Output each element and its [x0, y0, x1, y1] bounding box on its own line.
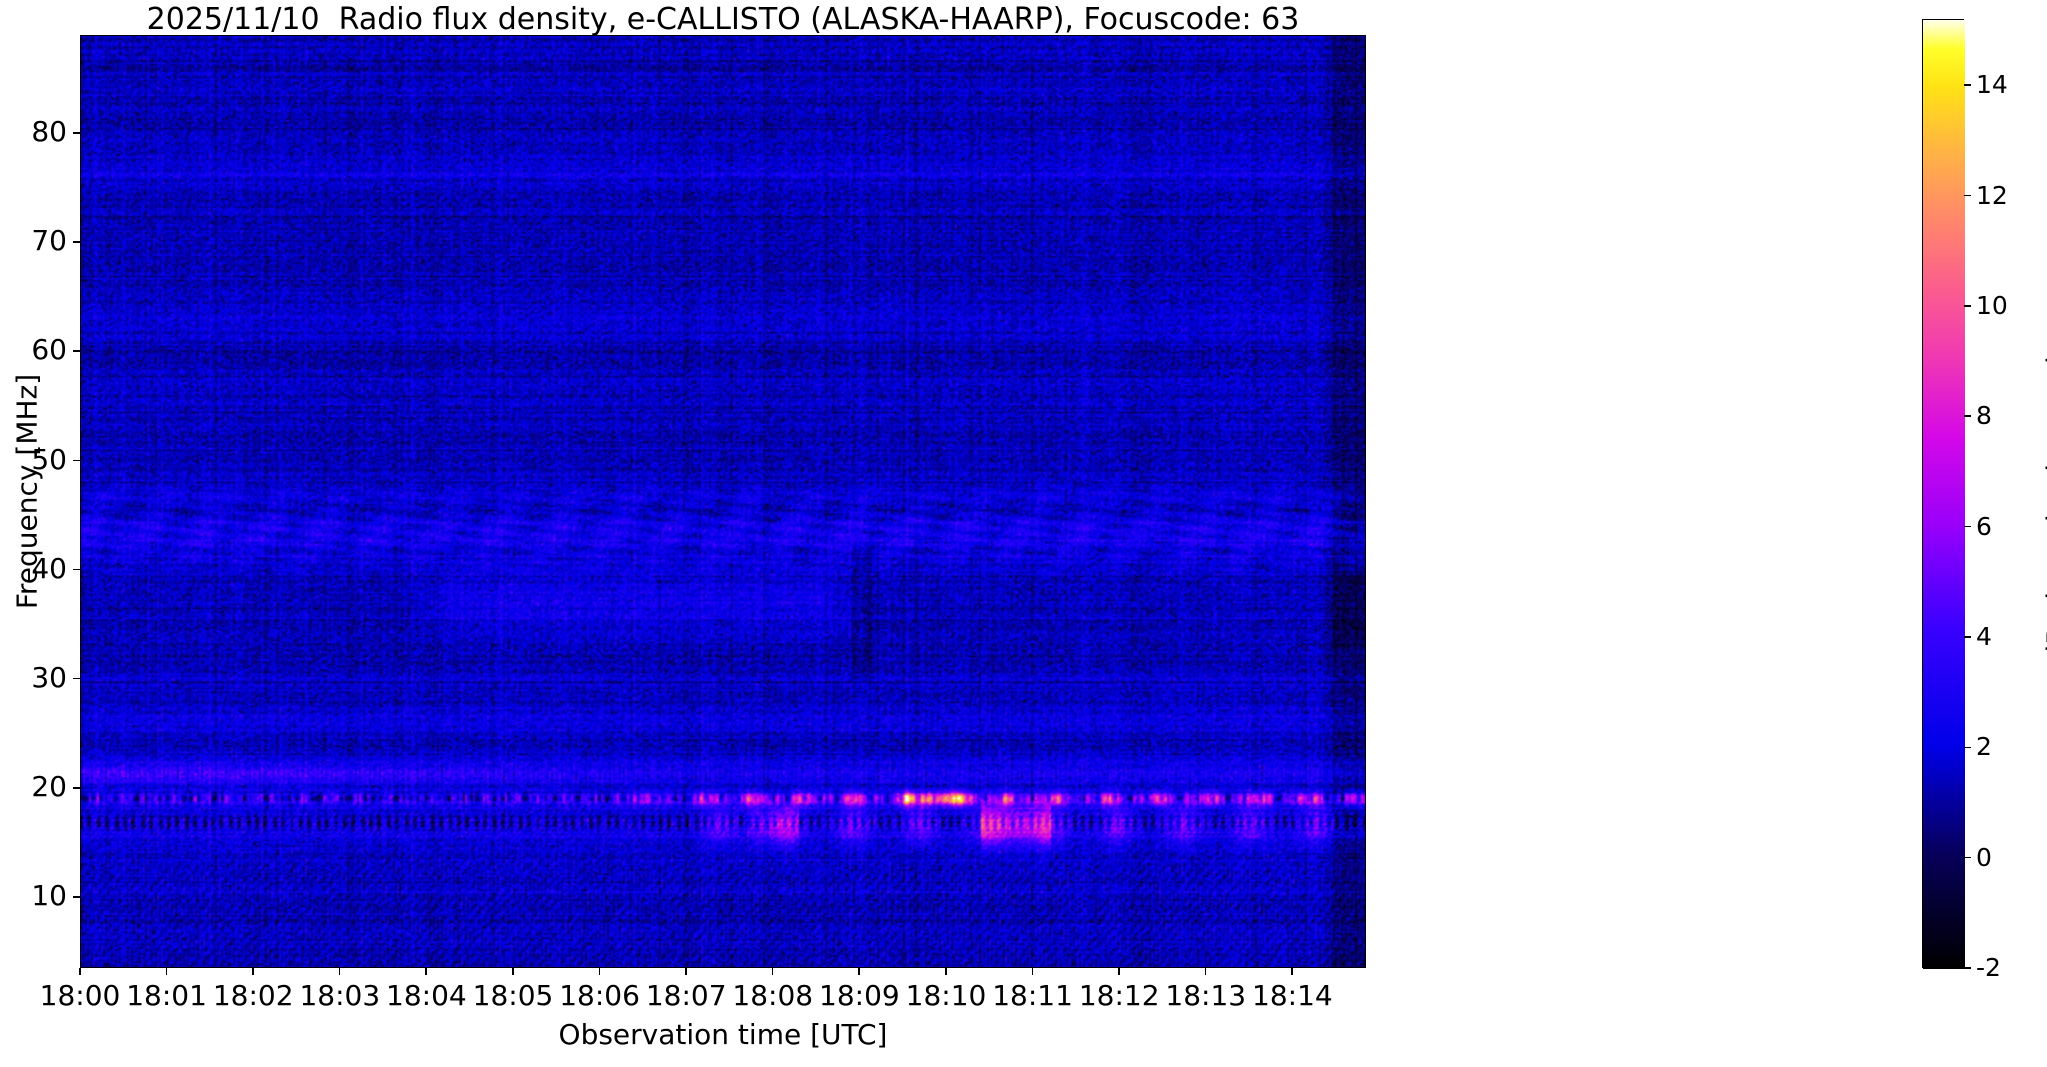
figure-canvas: 2025/11/10 Radio flux density, e-CALLIST… [0, 0, 2047, 1067]
colorbar-tick-label: -2 [1976, 952, 2001, 983]
x-tick-mark [599, 968, 601, 975]
x-tick-mark [252, 968, 254, 975]
colorbar-tick-label: 6 [1976, 511, 1992, 542]
colorbar-tick-label: 8 [1976, 400, 1992, 431]
x-tick-mark [425, 968, 427, 975]
x-tick-mark [166, 968, 168, 975]
colorbar-tick-mark [1964, 857, 1971, 859]
x-tick-mark [1032, 968, 1034, 975]
x-tick-label: 18:14 [1222, 979, 1362, 1013]
colorbar-tick-label: 10 [1976, 290, 2008, 321]
colorbar: 14121086420-2 [1922, 19, 1964, 968]
colorbar-tick-label: 4 [1976, 621, 1992, 652]
colorbar-tick-mark [1964, 415, 1971, 417]
colorbar-tick-mark [1964, 305, 1971, 307]
x-tick-mark [79, 968, 81, 975]
colorbar-tick-mark [1964, 967, 1971, 969]
colorbar-tick-label: 0 [1976, 842, 1992, 873]
colorbar-tick-mark [1964, 747, 1971, 749]
x-tick-mark [1205, 968, 1207, 975]
colorbar-ticks: 14121086420-2 [1922, 19, 1964, 968]
x-tick-mark [772, 968, 774, 975]
colorbar-tick-mark [1964, 526, 1971, 528]
x-axis-label: Observation time [UTC] [80, 1018, 1366, 1051]
x-tick-mark [858, 968, 860, 975]
colorbar-tick-label: 12 [1976, 180, 2008, 211]
colorbar-tick-label: 14 [1976, 69, 2008, 100]
colorbar-tick-mark [1964, 195, 1971, 197]
colorbar-label: dB above background [2041, 230, 2047, 790]
colorbar-tick-label: 2 [1976, 731, 1992, 762]
x-tick-mark [339, 968, 341, 975]
x-tick-mark [512, 968, 514, 975]
x-tick-mark [945, 968, 947, 975]
colorbar-tick-mark [1964, 636, 1971, 638]
x-tick-mark [1118, 968, 1120, 975]
x-tick-mark [1291, 968, 1293, 975]
x-axis-ticks: 18:0018:0118:0218:0318:0418:0518:0618:07… [0, 0, 2047, 1067]
x-tick-mark [685, 968, 687, 975]
colorbar-tick-mark [1964, 84, 1971, 86]
